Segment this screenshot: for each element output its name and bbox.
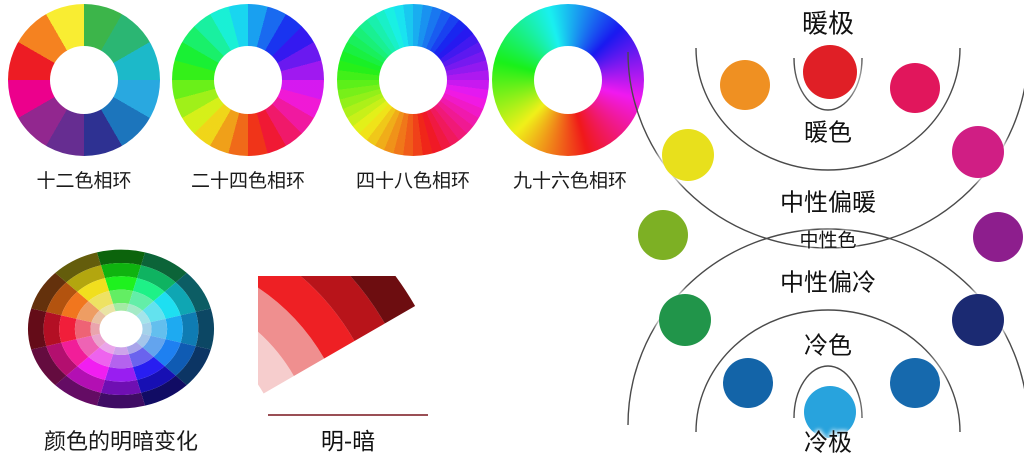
shade-fan-bands	[258, 276, 415, 394]
infographic-canvas: 十二色相环 二十四色相环 四十八色相环 九十六色相环 颜色的明暗变化 明-暗 暖…	[0, 0, 1024, 467]
swatch-blue-left[interactable]	[723, 358, 773, 408]
shade-fan-axis	[268, 414, 428, 416]
temperature-label-2: 中性偏暖	[780, 183, 876, 218]
temperature-map: 暖极暖色中性偏暖中性色中性偏冷冷色冷极	[620, 0, 1024, 467]
value-wheel-segment	[97, 250, 145, 266]
wheel-hub	[50, 46, 118, 114]
swatch-orange[interactable]	[720, 60, 770, 110]
color-wheel-24-label: 二十四色相环	[164, 166, 332, 193]
value-wheel-segment	[105, 276, 137, 291]
value-wheel-segment	[166, 315, 183, 342]
color-wheel-12-label: 十二色相环	[8, 166, 160, 193]
swatch-blue-right[interactable]	[890, 358, 940, 408]
value-wheel-graphic	[12, 236, 230, 422]
value-wheel-core	[99, 311, 142, 348]
value-wheel-label: 颜色的明暗变化	[2, 424, 240, 456]
swatch-crimson[interactable]	[890, 63, 940, 113]
temperature-label-1: 暖色	[804, 113, 852, 148]
swatch-magenta[interactable]	[952, 126, 1004, 178]
value-wheel-segment	[196, 308, 214, 349]
value-wheel-segment	[75, 319, 92, 339]
swatch-yellow-green[interactable]	[638, 210, 688, 260]
value-wheel-segment	[101, 380, 141, 395]
value-wheel-segment	[101, 263, 141, 278]
value-wheel-segment	[181, 312, 199, 346]
value-wheel-segment	[109, 354, 133, 368]
temperature-label-5: 冷色	[804, 326, 852, 361]
temperature-label-4: 中性偏冷	[780, 263, 876, 298]
swatch-green[interactable]	[659, 294, 711, 346]
swatch-yellow[interactable]	[662, 129, 714, 181]
color-wheel-48-label: 四十八色相环	[329, 166, 497, 193]
swatch-red[interactable]	[803, 45, 857, 99]
value-wheel-segment	[97, 393, 145, 409]
color-wheel-48	[337, 4, 489, 156]
value-wheel-segment	[109, 290, 133, 304]
shade-fan-label: 明-暗	[268, 422, 428, 456]
temperature-label-6: 冷极	[804, 423, 852, 458]
value-wheel-segment	[44, 312, 62, 346]
swatch-purple[interactable]	[973, 212, 1023, 262]
wheel-hub	[534, 46, 602, 114]
value-wheel	[12, 236, 230, 422]
wheel-hub	[214, 46, 282, 114]
color-wheel-12	[8, 4, 160, 156]
swatch-navy[interactable]	[952, 294, 1004, 346]
value-wheel-segment	[59, 315, 76, 342]
color-wheel-24	[172, 4, 324, 156]
shade-fan-graphic	[258, 276, 458, 406]
value-wheel-segment	[28, 308, 46, 349]
temperature-label-0: 暖极	[802, 4, 854, 41]
temperature-label-3: 中性色	[799, 226, 856, 253]
value-wheel-segment	[105, 367, 137, 382]
value-wheel-segment	[150, 319, 167, 339]
wheel-hub	[379, 46, 447, 114]
shade-fan	[258, 276, 458, 406]
